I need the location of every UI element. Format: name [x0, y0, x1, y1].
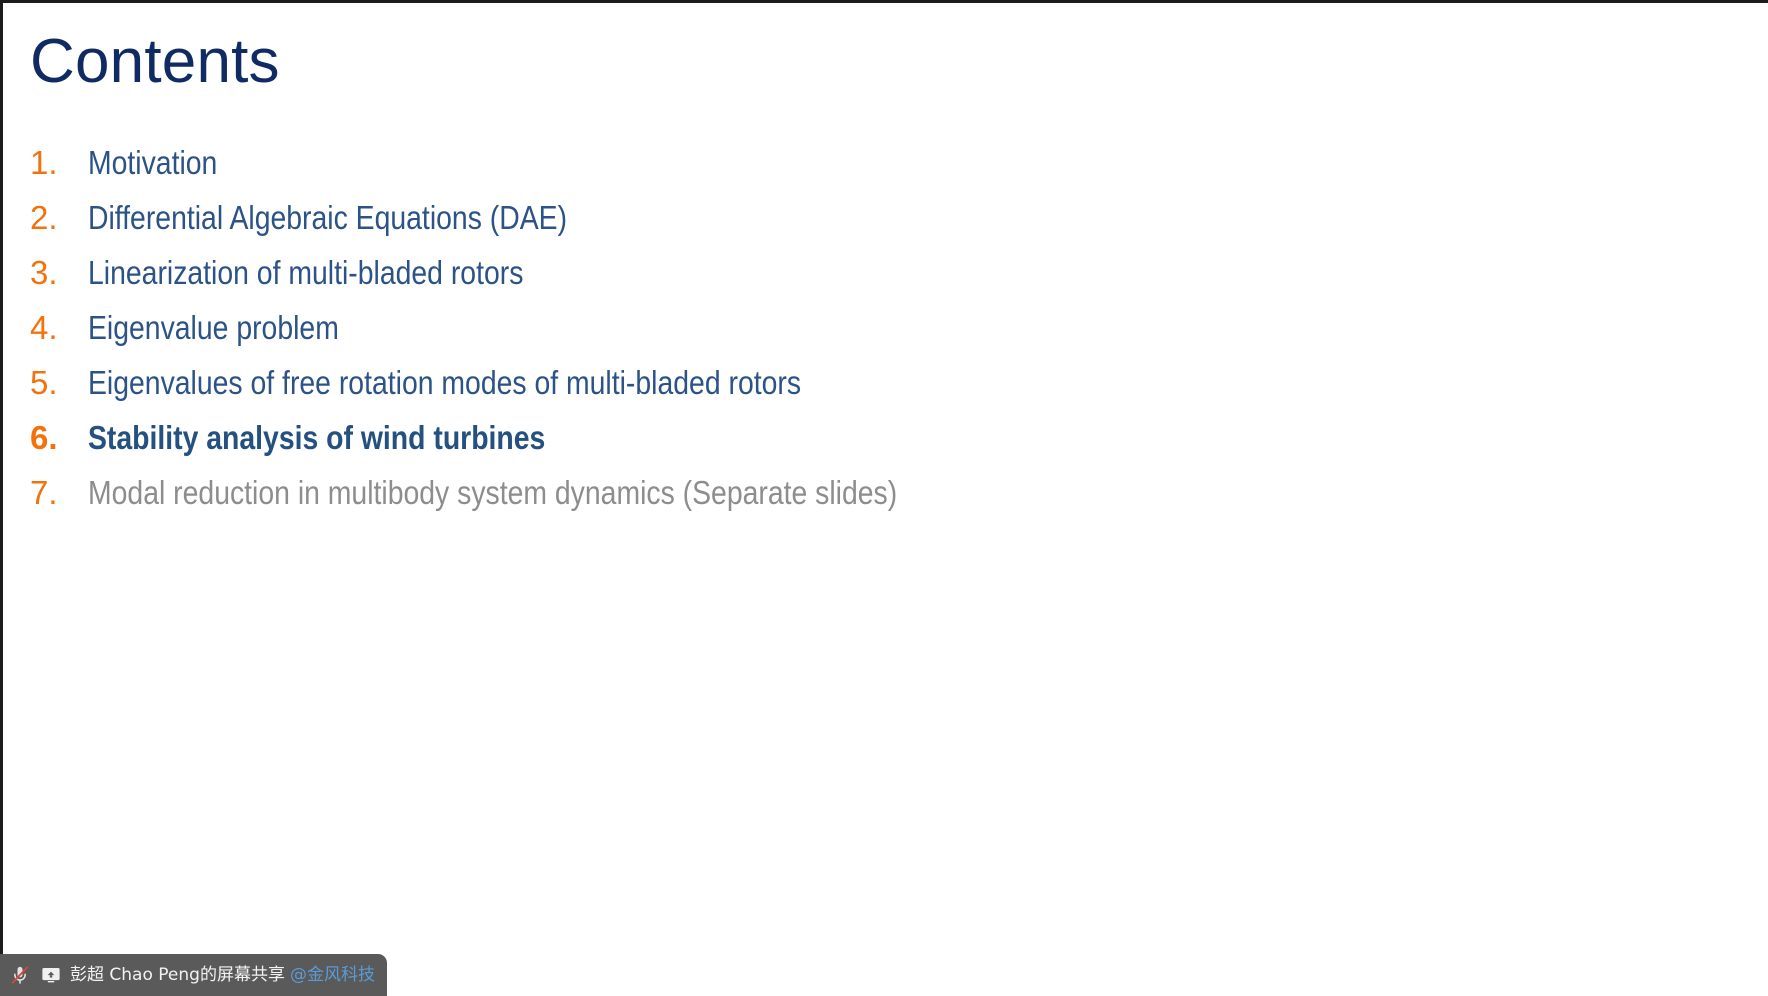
contents-list: 1. Motivation 2. Differential Algebraic … — [30, 144, 1730, 529]
list-item[interactable]: 2. Differential Algebraic Equations (DAE… — [30, 199, 1730, 254]
list-item-number: 7. — [30, 474, 88, 512]
list-item[interactable]: 5. Eigenvalues of free rotation modes of… — [30, 364, 1730, 419]
page-title: Contents — [30, 27, 280, 97]
list-item-label: Linearization of multi-bladed rotors — [88, 254, 523, 292]
list-item-number: 2. — [30, 199, 88, 237]
list-item[interactable]: 7. Modal reduction in multibody system d… — [30, 474, 1730, 529]
list-item-number: 6. — [30, 419, 88, 457]
share-organization-label: @金风科技 — [290, 964, 375, 986]
list-item-label: Motivation — [88, 144, 217, 182]
list-item-current[interactable]: 6. Stability analysis of wind turbines — [30, 419, 1730, 474]
screen-share-icon[interactable] — [39, 963, 63, 987]
list-item-number: 5. — [30, 364, 88, 402]
list-item-label: Stability analysis of wind turbines — [88, 419, 545, 457]
list-item-number: 4. — [30, 309, 88, 347]
microphone-muted-icon[interactable] — [8, 963, 32, 987]
share-presenter-label: 彭超 Chao Peng的屏幕共享 — [70, 964, 285, 986]
screen-share-status-bar[interactable]: 彭超 Chao Peng的屏幕共享 @金风科技 — [0, 954, 387, 996]
list-item[interactable]: 4. Eigenvalue problem — [30, 309, 1730, 364]
list-item-label: Modal reduction in multibody system dyna… — [88, 474, 897, 512]
list-item[interactable]: 3. Linearization of multi-bladed rotors — [30, 254, 1730, 309]
list-item-number: 1. — [30, 144, 88, 182]
window-edge-left — [0, 0, 3, 996]
list-item[interactable]: 1. Motivation — [30, 144, 1730, 199]
slide-canvas: Contents 1. Motivation 2. Differential A… — [0, 0, 1768, 996]
list-item-number: 3. — [30, 254, 88, 292]
list-item-label: Eigenvalue problem — [88, 309, 339, 347]
list-item-label: Differential Algebraic Equations (DAE) — [88, 199, 567, 237]
window-edge-top — [0, 0, 1768, 3]
list-item-label: Eigenvalues of free rotation modes of mu… — [88, 364, 801, 402]
